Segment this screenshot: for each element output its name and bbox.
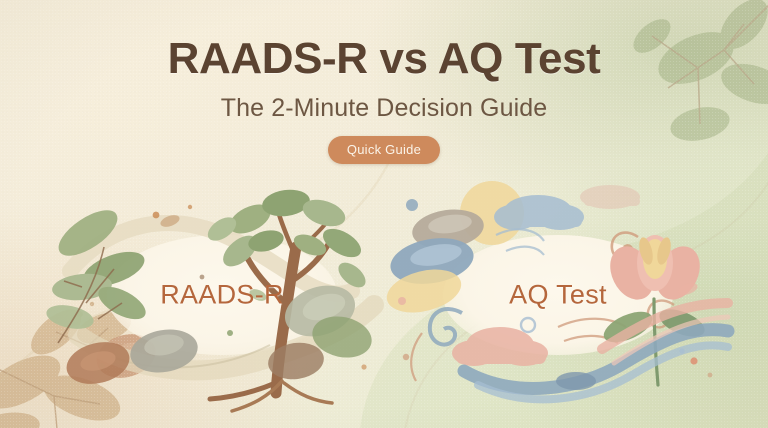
sun-shape: [460, 181, 524, 245]
page-subtitle: The 2-Minute Decision Guide: [0, 94, 768, 123]
panel-aq-test-label: AQ Test: [388, 280, 728, 311]
cloud-top: [494, 195, 584, 230]
comparison-panels: RAADS-R: [0, 185, 768, 413]
badge-container: Quick Guide: [0, 136, 768, 164]
panel-aq-test: AQ Test: [388, 185, 728, 405]
panel-raads-r-label: RAADS-R: [52, 280, 392, 311]
panel-raads-r: RAADS-R: [52, 185, 392, 405]
poster-header: RAADS-R vs AQ Test The 2-Minute Decision…: [0, 36, 768, 164]
cloud-faint: [580, 185, 640, 209]
poster-canvas: RAADS-R vs AQ Test The 2-Minute Decision…: [0, 0, 768, 428]
quick-guide-badge: Quick Guide: [328, 136, 440, 164]
page-title: RAADS-R vs AQ Test: [0, 36, 768, 82]
